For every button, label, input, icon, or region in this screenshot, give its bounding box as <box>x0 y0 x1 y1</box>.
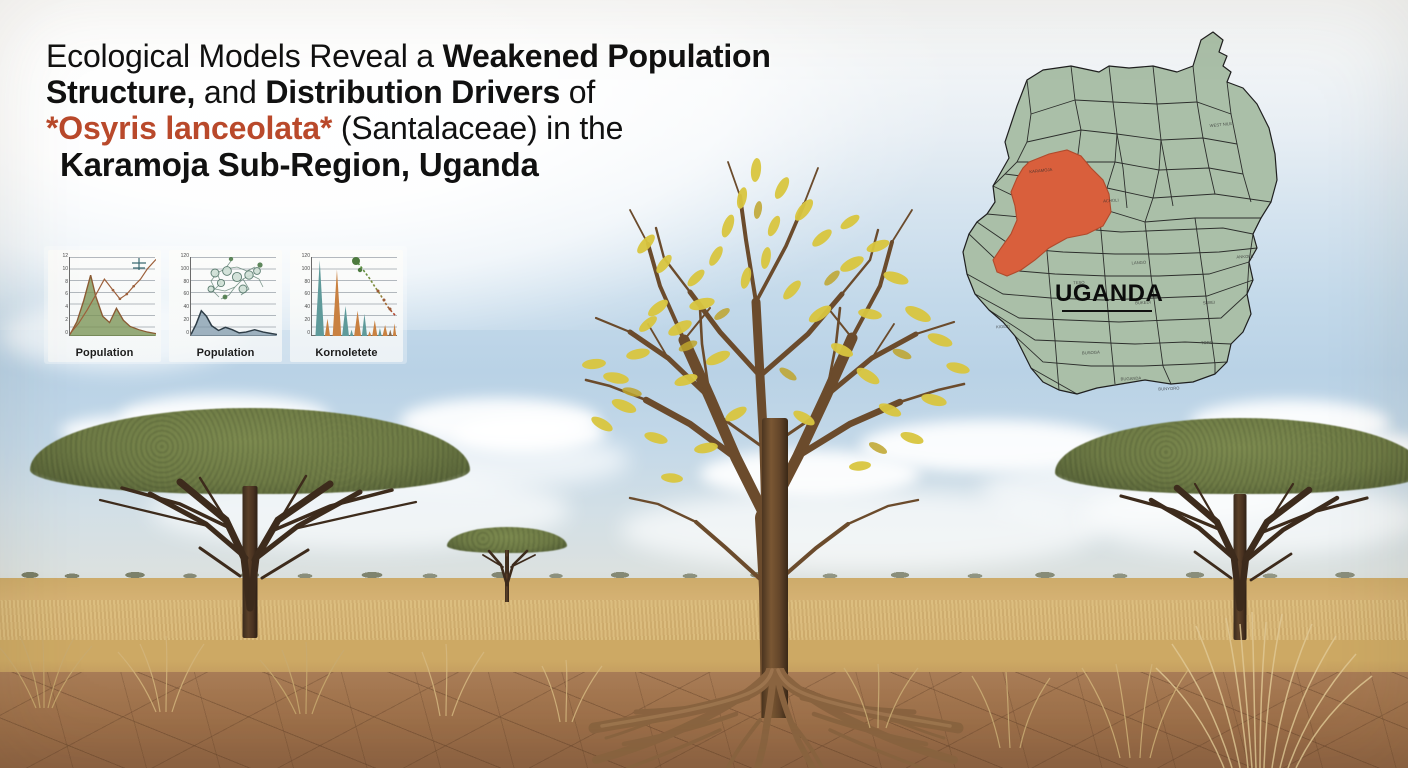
y-tick: 80 <box>304 280 310 285</box>
uganda-map: KARAMOJA ACHOLI LANGO TESO BUKEDI SEBEI … <box>931 22 1303 420</box>
svg-text:ANKOLE: ANKOLE <box>1236 254 1253 260</box>
y-tick: 80 <box>183 280 189 285</box>
title-line-2-regular-a: and <box>195 74 265 110</box>
map-country-label: UGANDA <box>1055 280 1163 308</box>
y-tick: 12 <box>62 254 68 259</box>
y-tick: 40 <box>304 305 310 310</box>
map-label-underline <box>1062 310 1152 312</box>
title-line-1-regular: Ecological Models Reveal a <box>46 38 443 74</box>
chart-population-structure: 12 10 8 6 4 2 0 <box>48 250 161 362</box>
svg-text:BUSOGA: BUSOGA <box>1082 350 1100 356</box>
title-line-4: Karamoja Sub-Region, Uganda <box>46 146 876 183</box>
title-line-2-bold-a: Structure, <box>46 74 195 110</box>
chart1-y-ticks: 12 10 8 6 4 2 0 <box>50 254 68 336</box>
svg-text:TORO: TORO <box>1201 340 1214 346</box>
mini-chart-strip: 12 10 8 6 4 2 0 <box>44 246 407 364</box>
y-tick: 20 <box>183 318 189 323</box>
y-tick: 60 <box>183 292 189 297</box>
chart-correlates: 120 100 80 60 40 20 0 <box>290 250 403 362</box>
title-line-1-bold: Weakened Population <box>443 38 771 74</box>
title-line-2: Structure, and Distribution Drivers of <box>46 74 876 110</box>
poster-canvas: Ecological Models Reveal a Weakened Popu… <box>0 0 1408 768</box>
uganda-map-svg: KARAMOJA ACHOLI LANGO TESO BUKEDI SEBEI … <box>931 22 1303 420</box>
chart3-y-ticks: 120 100 80 60 40 20 0 <box>292 254 310 336</box>
chart1-plot-area <box>69 257 155 336</box>
title-line-3-regular: (Santalaceae) in the <box>332 110 623 146</box>
y-tick: 2 <box>65 318 68 323</box>
y-tick: 6 <box>65 292 68 297</box>
chart2-caption: Population <box>169 347 282 359</box>
svg-text:LANGO: LANGO <box>1131 260 1147 266</box>
grass-tufts <box>0 588 1408 768</box>
chart2-network-overlay <box>191 257 277 336</box>
y-tick: 8 <box>65 280 68 285</box>
title-line-2-regular-b: of <box>560 74 595 110</box>
svg-text:KIGEZI: KIGEZI <box>996 324 1010 330</box>
y-tick: 60 <box>304 292 310 297</box>
chart3-caption: Kornoletete <box>290 347 403 359</box>
y-tick: 120 <box>181 254 189 259</box>
y-tick: 0 <box>186 331 189 336</box>
title-line-2-bold-b: Distribution Drivers <box>265 74 560 110</box>
title-line-3: *Osyris lanceolata* (Santalaceae) in the <box>46 110 876 146</box>
y-tick: 20 <box>304 318 310 323</box>
svg-text:BUNYORO: BUNYORO <box>1158 385 1180 391</box>
y-tick: 100 <box>181 267 189 272</box>
chart2-plot-area <box>190 257 276 336</box>
y-tick: 4 <box>65 305 68 310</box>
chart1-annotation-marker <box>70 257 156 336</box>
chart-population-density: 120 100 80 60 40 20 0 <box>169 250 282 362</box>
chart3-trend-line <box>312 257 398 336</box>
chart3-plot-area <box>311 257 397 336</box>
uganda-outline <box>963 32 1277 394</box>
y-tick: 10 <box>62 267 68 272</box>
chart2-y-ticks: 120 100 80 60 40 20 0 <box>171 254 189 336</box>
y-tick: 0 <box>307 331 310 336</box>
poster-title: Ecological Models Reveal a Weakened Popu… <box>46 38 876 184</box>
species-name: *Osyris lanceolata* <box>46 110 332 146</box>
y-tick: 40 <box>183 305 189 310</box>
svg-text:SEBEI: SEBEI <box>1203 300 1216 306</box>
y-tick: 100 <box>302 267 310 272</box>
title-line-1: Ecological Models Reveal a Weakened Popu… <box>46 38 876 74</box>
y-tick: 120 <box>302 254 310 259</box>
y-tick: 0 <box>65 331 68 336</box>
chart1-caption: Population <box>48 347 161 359</box>
